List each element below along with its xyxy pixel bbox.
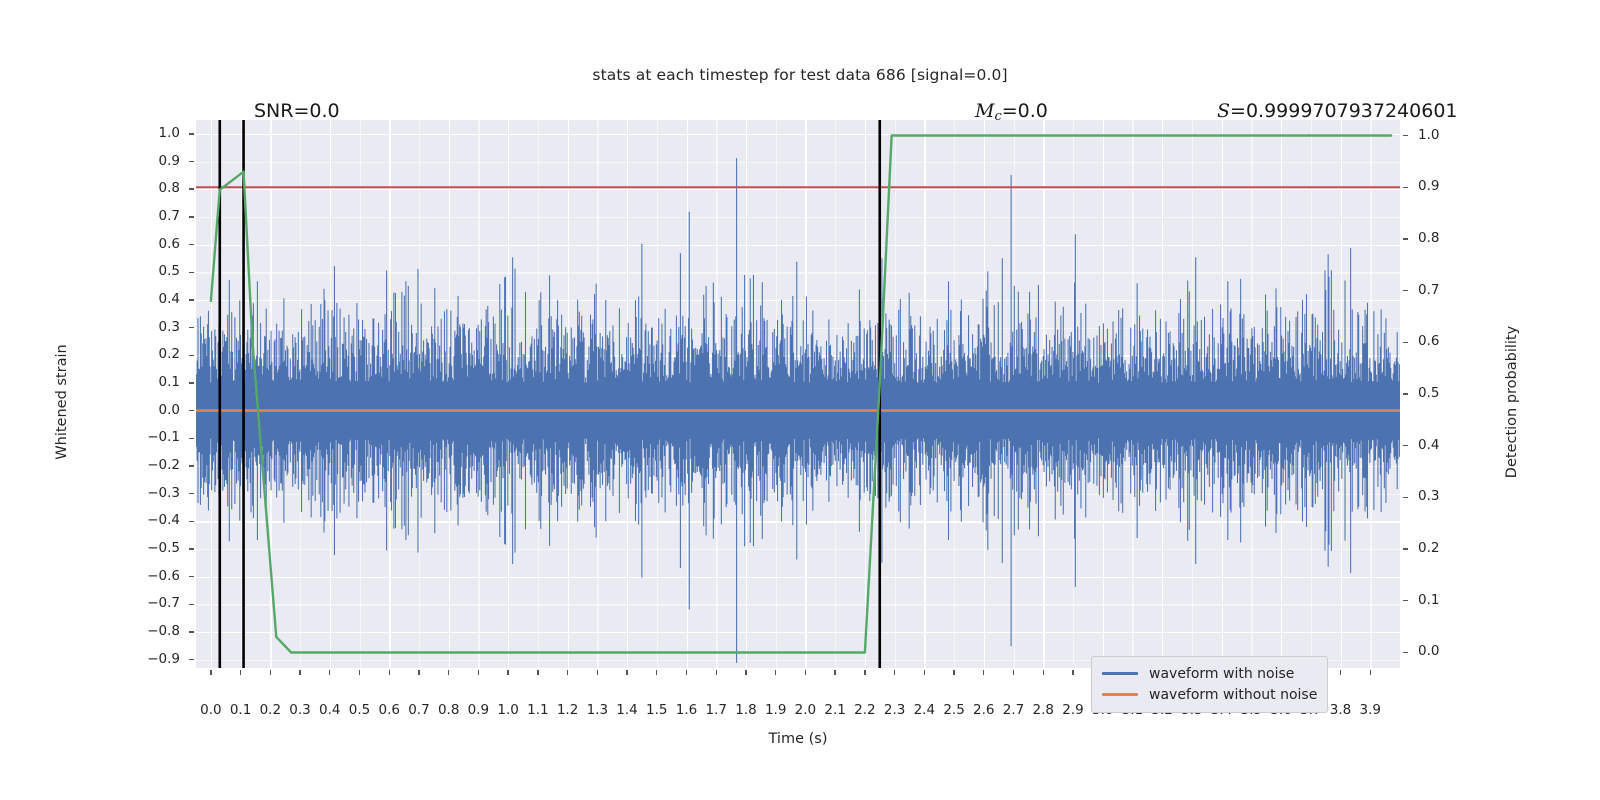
chart-legend: waveform with noise waveform without noi… — [1091, 656, 1328, 713]
annotation-chirp-mass-value: 0.0 — [1018, 100, 1048, 122]
y-axis-left-tick-label: −0.2 — [134, 457, 180, 473]
y-axis-left-tick-mark — [189, 382, 194, 383]
legend-label-waveform-without-noise: waveform without noise — [1149, 687, 1317, 703]
y-axis-right-label: Detection probability — [1504, 192, 1520, 612]
plot-data-layer — [196, 120, 1400, 668]
x-axis-tick-mark — [864, 670, 865, 675]
y-axis-left-tick-mark — [189, 521, 194, 522]
y-axis-right-tick-mark — [1403, 600, 1408, 601]
x-axis-tick-mark — [210, 670, 211, 675]
x-axis-tick-mark — [894, 670, 895, 675]
y-axis-left-tick-label: −0.7 — [134, 595, 180, 611]
y-axis-right-tick-label: 0.7 — [1418, 282, 1464, 298]
y-axis-left-tick-label: −0.3 — [134, 485, 180, 501]
y-axis-right-tick-mark — [1403, 238, 1408, 239]
x-axis-tick-mark — [924, 670, 925, 675]
x-axis-tick-mark — [478, 670, 479, 675]
y-axis-left-tick-label: −0.1 — [134, 429, 180, 445]
y-axis-left-tick-mark — [189, 216, 194, 217]
y-axis-left-tick-label: 0.2 — [134, 346, 180, 362]
y-axis-left-tick-label: 0.7 — [134, 208, 180, 224]
y-axis-left-tick-mark — [189, 631, 194, 632]
annotation-score-value: 0.9999707937240601 — [1246, 100, 1458, 122]
y-axis-right-tick-label: 0.6 — [1418, 333, 1464, 349]
x-axis-tick-mark — [1370, 670, 1371, 675]
legend-item-waveform-with-noise: waveform with noise — [1102, 663, 1317, 684]
y-axis-left-tick-mark — [189, 299, 194, 300]
annotation-chirp-mass: Mc=0.0 — [975, 100, 1048, 124]
y-axis-right-tick-label: 1.0 — [1418, 127, 1464, 143]
y-axis-left-tick-mark — [189, 161, 194, 162]
x-axis-tick-mark — [686, 670, 687, 675]
legend-item-waveform-without-noise: waveform without noise — [1102, 684, 1317, 705]
annotation-score-symbol: S — [1217, 100, 1230, 122]
annotation-score-label: = — [1230, 100, 1246, 122]
y-axis-left-tick-label: −0.4 — [134, 512, 180, 528]
y-axis-right-tick-mark — [1403, 187, 1408, 188]
x-axis-tick-mark — [953, 670, 954, 675]
y-axis-left-tick-label: 0.8 — [134, 180, 180, 196]
annotation-snr-label: SNR= — [254, 100, 309, 122]
y-axis-right-tick-mark — [1403, 290, 1408, 291]
legend-swatch-blue — [1102, 672, 1138, 674]
x-axis-tick-mark — [805, 670, 806, 675]
legend-swatch-orange — [1102, 693, 1138, 695]
annotation-chirp-mass-label: = — [1002, 100, 1018, 122]
annotation-chirp-mass-subscript: c — [994, 109, 1001, 124]
x-axis-tick-label: 3.9 — [1347, 702, 1393, 718]
annotation-chirp-mass-symbol: M — [975, 100, 994, 122]
y-axis-left-tick-mark — [189, 272, 194, 273]
y-axis-right-tick-mark — [1403, 497, 1408, 498]
x-axis-tick-mark — [537, 670, 538, 675]
x-axis-tick-mark — [359, 670, 360, 675]
y-axis-left-tick-label: −0.9 — [134, 651, 180, 667]
y-axis-right-tick-label: 0.8 — [1418, 230, 1464, 246]
x-axis-tick-mark — [299, 670, 300, 675]
y-axis-right-tick-mark — [1403, 393, 1408, 394]
y-axis-left-tick-label: 0.9 — [134, 153, 180, 169]
y-axis-left-tick-label: 0.4 — [134, 291, 180, 307]
annotation-snr-value: 0.0 — [309, 100, 339, 122]
y-axis-right-tick-label: 0.1 — [1418, 592, 1464, 608]
chart-title: stats at each timestep for test data 686… — [0, 66, 1600, 84]
y-axis-left-tick-label: 0.6 — [134, 236, 180, 252]
x-axis-tick-mark — [626, 670, 627, 675]
annotation-snr: SNR=0.0 — [254, 100, 340, 122]
x-axis-tick-mark — [389, 670, 390, 675]
y-axis-left-tick-label: −0.8 — [134, 623, 180, 639]
y-axis-left-tick-label: 0.0 — [134, 402, 180, 418]
y-axis-right-tick-label: 0.2 — [1418, 540, 1464, 556]
y-axis-left-tick-label: 0.3 — [134, 319, 180, 335]
x-axis-tick-mark — [834, 670, 835, 675]
y-axis-left-tick-label: 0.5 — [134, 263, 180, 279]
y-axis-left-tick-mark — [189, 548, 194, 549]
y-axis-left-tick-mark — [189, 659, 194, 660]
y-axis-left-tick-label: −0.5 — [134, 540, 180, 556]
y-axis-right-tick-mark — [1403, 652, 1408, 653]
x-axis-tick-mark — [716, 670, 717, 675]
y-axis-left-tick-mark — [189, 355, 194, 356]
x-axis-tick-mark — [656, 670, 657, 675]
x-axis-tick-mark — [1043, 670, 1044, 675]
y-axis-right-tick-mark — [1403, 342, 1408, 343]
x-axis-tick-mark — [270, 670, 271, 675]
x-axis-label: Time (s) — [196, 731, 1400, 747]
y-axis-right-tick-label: 0.0 — [1418, 643, 1464, 659]
y-axis-left-tick-mark — [189, 438, 194, 439]
x-axis-tick-mark — [1340, 670, 1341, 675]
y-axis-right-tick-mark — [1403, 445, 1408, 446]
x-axis-tick-mark — [1013, 670, 1014, 675]
y-axis-left-tick-mark — [189, 576, 194, 577]
x-axis-tick-mark — [418, 670, 419, 675]
y-axis-right-tick-mark — [1403, 135, 1408, 136]
y-axis-left-tick-mark — [189, 133, 194, 134]
y-axis-left-tick-label: −0.6 — [134, 568, 180, 584]
x-axis-tick-mark — [240, 670, 241, 675]
y-axis-left-tick-mark — [189, 465, 194, 466]
y-axis-left-tick-mark — [189, 493, 194, 494]
y-axis-right-tick-label: 0.4 — [1418, 437, 1464, 453]
y-axis-left-tick-mark — [189, 327, 194, 328]
annotation-score: S=0.9999707937240601 — [1217, 100, 1458, 122]
x-axis-tick-mark — [983, 670, 984, 675]
y-axis-left-tick-mark — [189, 410, 194, 411]
y-axis-left-tick-label: 0.1 — [134, 374, 180, 390]
y-axis-left-tick-mark — [189, 188, 194, 189]
y-axis-right-tick-mark — [1403, 548, 1408, 549]
x-axis-tick-mark — [329, 670, 330, 675]
y-axis-left-tick-mark — [189, 244, 194, 245]
legend-label-waveform-with-noise: waveform with noise — [1149, 666, 1294, 682]
plot-axes-area — [196, 120, 1400, 668]
x-axis-tick-mark — [745, 670, 746, 675]
y-axis-right-tick-label: 0.9 — [1418, 178, 1464, 194]
y-axis-right-tick-label: 0.3 — [1418, 488, 1464, 504]
x-axis-tick-mark — [448, 670, 449, 675]
x-axis-tick-mark — [775, 670, 776, 675]
matplotlib-figure: stats at each timestep for test data 686… — [0, 0, 1600, 800]
x-axis-tick-mark — [597, 670, 598, 675]
x-axis-tick-mark — [1072, 670, 1073, 675]
x-axis-tick-mark — [507, 670, 508, 675]
y-axis-right-tick-label: 0.5 — [1418, 385, 1464, 401]
y-axis-left-tick-mark — [189, 604, 194, 605]
x-axis-tick-mark — [567, 670, 568, 675]
y-axis-left-label: Whitened strain — [54, 192, 70, 612]
y-axis-left-tick-label: 1.0 — [134, 125, 180, 141]
